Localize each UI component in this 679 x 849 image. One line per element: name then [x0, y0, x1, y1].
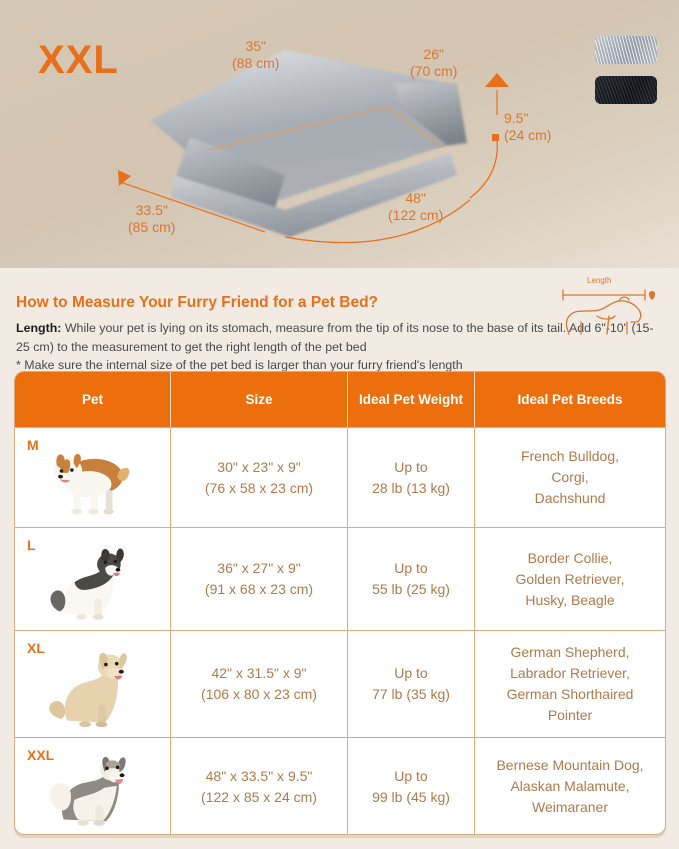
dimension-width-top: 35"(88 cm) — [232, 38, 279, 72]
swatch-dark-navy-faux-fur[interactable] — [595, 76, 657, 104]
column-header-size: Size — [171, 372, 348, 427]
table-row: L — [15, 527, 665, 630]
column-header-weight: Ideal Pet Weight — [348, 372, 475, 427]
cell-size: 42" x 31.5" x 9" (106 x 80 x 23 cm) — [171, 631, 348, 737]
cell-pet: L — [15, 528, 171, 630]
cell-breeds: German Shepherd, Labrador Retriever, Ger… — [475, 631, 665, 737]
cell-breeds: Bernese Mountain Dog, Alaskan Malamute, … — [475, 738, 665, 835]
color-swatch-list — [595, 36, 657, 116]
weight-value: Up to 99 lb (45 kg) — [372, 766, 450, 808]
dimension-lines — [0, 0, 679, 268]
size-value: 36" x 27" x 9" (91 x 68 x 23 cm) — [205, 558, 313, 600]
cell-weight: Up to 99 lb (45 kg) — [348, 738, 475, 835]
dog-image-corgi — [36, 437, 149, 518]
weight-value: Up to 55 lb (25 kg) — [372, 558, 450, 600]
dimension-depth-top: 26"(70 cm) — [410, 46, 457, 80]
pet-size-tag: XL — [27, 638, 45, 659]
dimension-length-bottom: 48"(122 cm) — [388, 190, 443, 224]
pet-size-tag: L — [27, 535, 36, 556]
cell-breeds: Border Collie, Golden Retriever, Husky, … — [475, 528, 665, 630]
cell-pet: M — [15, 428, 171, 527]
table-row: XXL — [15, 737, 665, 835]
cell-pet: XXL — [15, 738, 171, 835]
size-chart-table: Pet Size Ideal Pet Weight Ideal Pet Bree… — [14, 371, 666, 835]
cell-size: 30" x 23" x 9" (76 x 58 x 23 cm) — [171, 428, 348, 527]
swatch-light-gray-faux-fur[interactable] — [595, 36, 657, 64]
dog-image-alaskan-malamute — [39, 747, 145, 827]
length-diagram-label: Length — [587, 276, 611, 285]
cell-size: 36" x 27" x 9" (91 x 68 x 23 cm) — [171, 528, 348, 630]
table-row: XL — [15, 630, 665, 737]
table-row: M — [15, 427, 665, 527]
size-value: 30" x 23" x 9" (76 x 58 x 23 cm) — [205, 457, 313, 499]
breeds-value: Bernese Mountain Dog, Alaskan Malamute, … — [496, 755, 643, 818]
cell-size: 48" x 33.5" x 9.5" (122 x 85 x 24 cm) — [171, 738, 348, 835]
breeds-value: French Bulldog, Corgi, Dachshund — [521, 446, 619, 509]
size-value: 48" x 33.5" x 9.5" (122 x 85 x 24 cm) — [201, 766, 317, 808]
column-header-breeds: Ideal Pet Breeds — [475, 372, 665, 427]
product-infographic: XXL — [0, 0, 679, 849]
column-header-pet: Pet — [15, 372, 171, 427]
pet-size-tag: XXL — [27, 745, 54, 766]
size-value: 42" x 31.5" x 9" (106 x 80 x 23 cm) — [201, 663, 317, 705]
cell-breeds: French Bulldog, Corgi, Dachshund — [475, 428, 665, 527]
measure-guide-section: How to Measure Your Furry Friend for a P… — [0, 268, 679, 375]
cell-weight: Up to 28 lb (13 kg) — [348, 428, 475, 527]
dimension-width-bottom: 33.5"(85 cm) — [128, 202, 175, 236]
cell-weight: Up to 55 lb (25 kg) — [348, 528, 475, 630]
dog-image-border-collie — [38, 537, 147, 621]
dog-image-labrador — [38, 641, 147, 728]
breeds-value: German Shepherd, Labrador Retriever, Ger… — [507, 642, 634, 726]
hero-section: XXL — [0, 0, 679, 268]
breeds-value: Border Collie, Golden Retriever, Husky, … — [516, 548, 625, 611]
cell-pet: XL — [15, 631, 171, 737]
dimension-height: 9.5"(24 cm) — [504, 110, 551, 144]
length-diagram: Length — [557, 276, 661, 338]
measure-length-label: Length: — [16, 321, 61, 335]
cell-weight: Up to 77 lb (35 kg) — [348, 631, 475, 737]
pet-size-tag: M — [27, 435, 39, 456]
weight-value: Up to 28 lb (13 kg) — [372, 457, 450, 499]
weight-value: Up to 77 lb (35 kg) — [372, 663, 450, 705]
table-header-row: Pet Size Ideal Pet Weight Ideal Pet Bree… — [15, 372, 665, 427]
